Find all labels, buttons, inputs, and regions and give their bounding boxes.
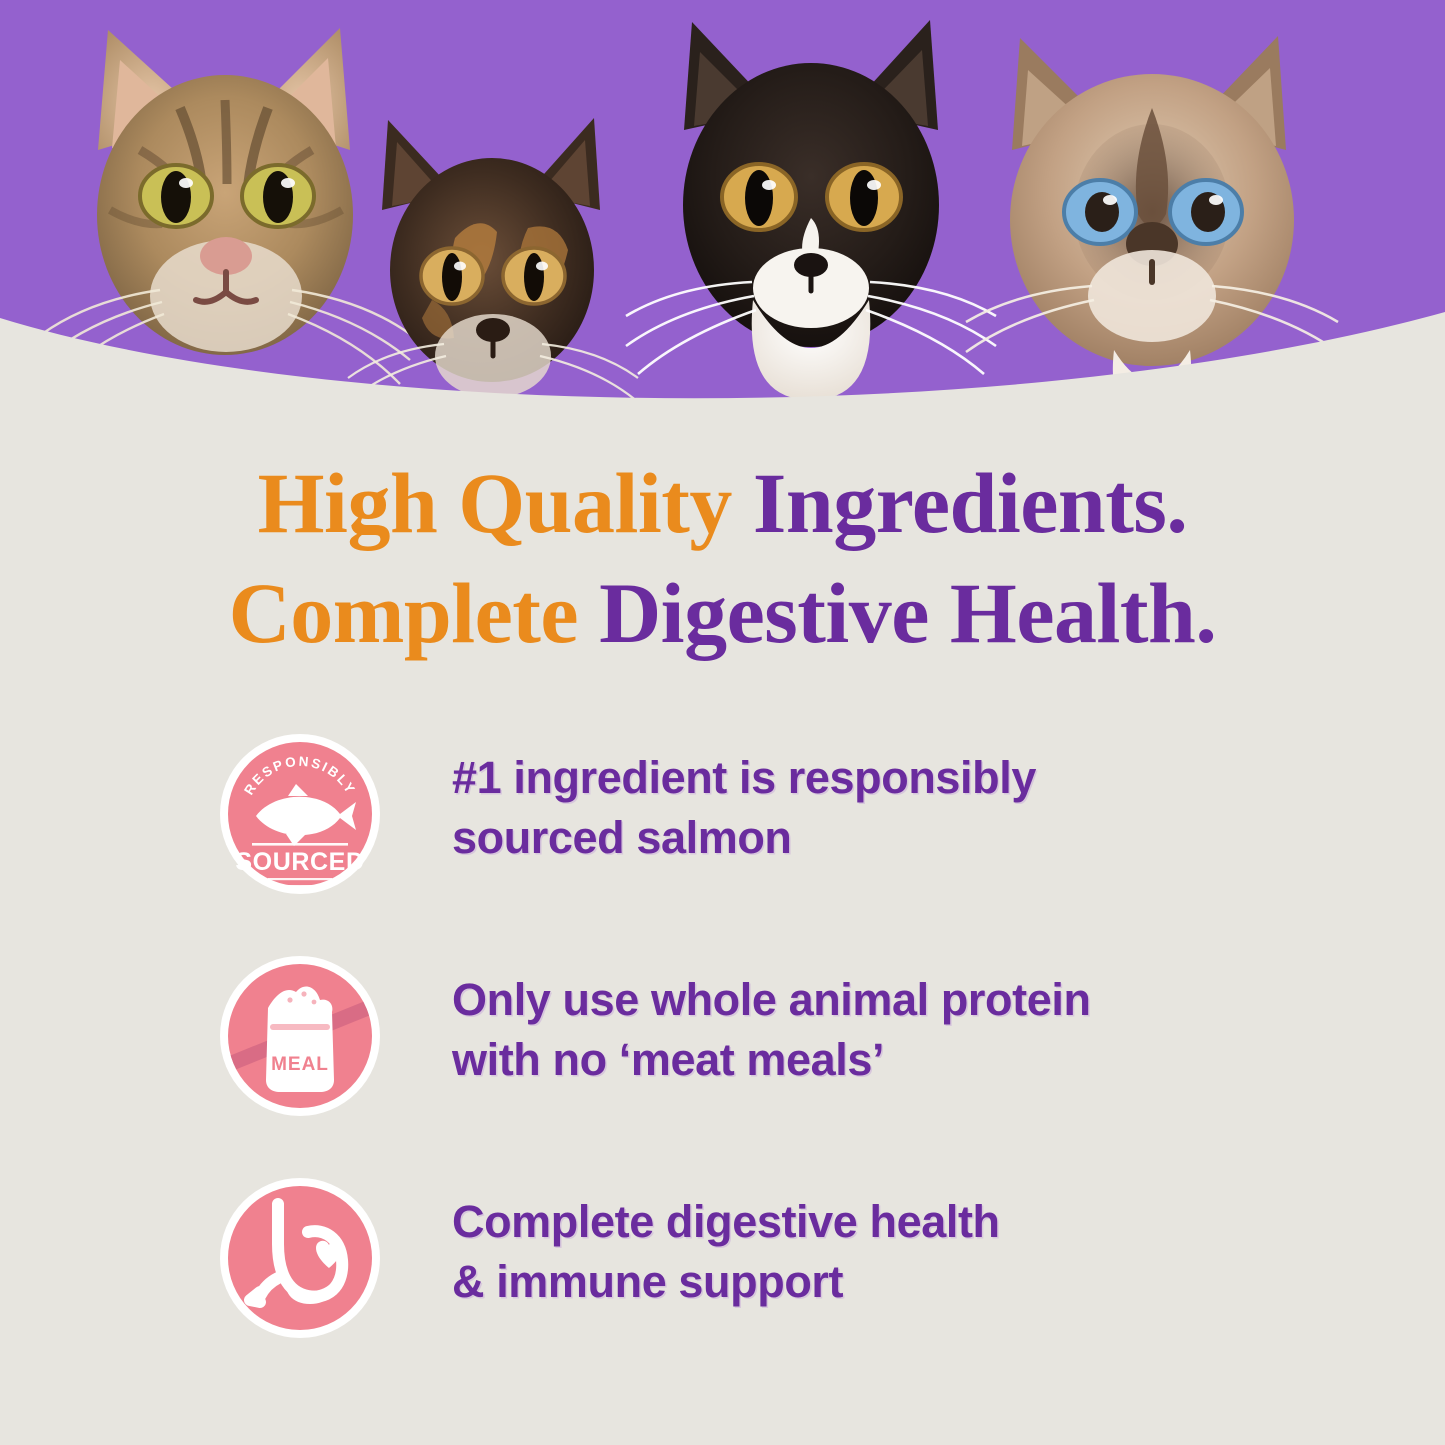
badge-main-text: MEAL bbox=[271, 1054, 329, 1075]
badge-main-text: SOURCED bbox=[235, 848, 364, 876]
feature-text-line-2: sourced salmon bbox=[452, 808, 1292, 868]
meal-sack-icon: MEAL bbox=[266, 986, 334, 1092]
no-meat-meal-sack-icon: MEAL bbox=[216, 952, 384, 1120]
feature-list: RESPONSIBLY SOURCED bbox=[0, 724, 1445, 1390]
headline-line-1-purple: Ingredients. bbox=[753, 455, 1187, 551]
feature-text: #1 ingredient is responsibly sourced sal… bbox=[452, 748, 1292, 868]
feature-icon: MEAL bbox=[216, 952, 384, 1120]
hero-banner bbox=[0, 0, 1445, 400]
feature-text-line-1: Complete digestive health bbox=[452, 1192, 1292, 1252]
stomach-heart-digestive-health-icon bbox=[216, 1174, 384, 1342]
feature-text-line-2: & immune support bbox=[452, 1252, 1292, 1312]
responsibly-sourced-fish-badge-icon: RESPONSIBLY SOURCED bbox=[216, 730, 384, 898]
cat-tortoiseshell-kitten bbox=[348, 118, 638, 400]
product-feature-panel: High Quality Ingredients. Complete Diges… bbox=[0, 0, 1445, 1445]
cat-black-white-tuxedo bbox=[626, 20, 996, 400]
feature-text: Only use whole animal protein with no ‘m… bbox=[452, 970, 1292, 1090]
hero-cats-illustration bbox=[0, 0, 1445, 400]
feature-item: MEAL Only use whole animal protein with … bbox=[0, 946, 1445, 1168]
cat-seal-point-ragdoll bbox=[966, 36, 1338, 400]
feature-text: Complete digestive health & immune suppo… bbox=[452, 1192, 1292, 1312]
headline: High Quality Ingredients. Complete Diges… bbox=[0, 448, 1445, 668]
feature-item: Complete digestive health & immune suppo… bbox=[0, 1168, 1445, 1390]
feature-icon bbox=[216, 1174, 384, 1342]
headline-line-2-purple: Digestive Health. bbox=[599, 565, 1216, 661]
headline-line-2: Complete Digestive Health. bbox=[0, 558, 1445, 668]
feature-icon: RESPONSIBLY SOURCED bbox=[216, 730, 384, 898]
feature-item: RESPONSIBLY SOURCED bbox=[0, 724, 1445, 946]
feature-text-line-1: Only use whole animal protein bbox=[452, 970, 1292, 1030]
feature-text-line-1: #1 ingredient is responsibly bbox=[452, 748, 1292, 808]
headline-line-2-orange: Complete bbox=[229, 565, 599, 661]
headline-line-1-orange: High Quality bbox=[258, 455, 753, 551]
cat-brown-tabby bbox=[42, 28, 410, 384]
headline-line-1: High Quality Ingredients. bbox=[0, 448, 1445, 558]
feature-text-line-2: with no ‘meat meals’ bbox=[452, 1030, 1292, 1090]
